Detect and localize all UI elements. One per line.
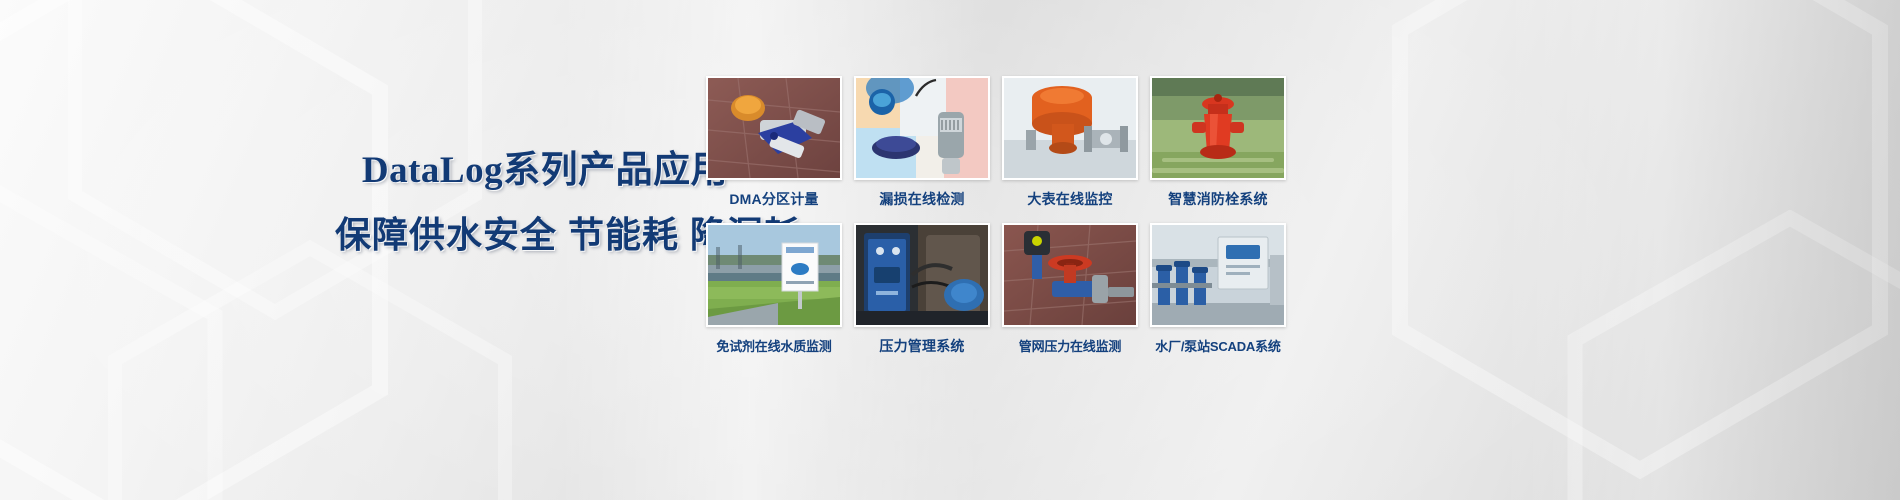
- headline-secondary: 保障供水安全 节能耗 降漏耗: [335, 212, 755, 258]
- product-caption: 管网压力在线监测: [1002, 336, 1138, 355]
- hexagon-watermark-icon: [1560, 210, 1900, 500]
- product-card-pressure-management-system[interactable]: 压力管理系统: [854, 223, 990, 365]
- product-card-large-meter-monitoring[interactable]: 大表在线监控: [1002, 76, 1138, 218]
- product-caption: 免试剂在线水质监测: [706, 336, 842, 355]
- hexagon-watermark-icon: [1380, 0, 1900, 480]
- product-card-smart-hydrant-system[interactable]: 智慧消防栓系统: [1150, 76, 1286, 218]
- hexagon-watermark-icon: [0, 180, 230, 500]
- product-card-reagent-free-water-quality[interactable]: 免试剂在线水质监测: [706, 223, 842, 365]
- product-grid: DMA分区计量: [706, 76, 1286, 365]
- product-card-dma-metering[interactable]: DMA分区计量: [706, 76, 842, 218]
- product-caption: 大表在线监控: [1002, 189, 1138, 209]
- product-thumbnail[interactable]: [1150, 76, 1286, 180]
- hexagon-watermark-icon: [100, 240, 520, 500]
- promo-banner: DataLog系列产品应用 保障供水安全 节能耗 降漏耗: [0, 0, 1900, 500]
- product-card-pipeline-pressure-monitoring[interactable]: 管网压力在线监测: [1002, 223, 1138, 365]
- background-sheen: [1500, 0, 1900, 500]
- product-thumbnail[interactable]: [1002, 223, 1138, 327]
- product-caption: 漏损在线检测: [854, 189, 990, 209]
- product-card-leak-online-detection[interactable]: 漏损在线检测: [854, 76, 990, 218]
- banner-headline: DataLog系列产品应用 保障供水安全 节能耗 降漏耗: [335, 148, 755, 258]
- product-thumbnail[interactable]: [1002, 76, 1138, 180]
- product-card-waterworks-scada[interactable]: 水厂/泵站SCADA系统: [1150, 223, 1286, 365]
- product-thumbnail[interactable]: [854, 223, 990, 327]
- product-caption: DMA分区计量: [706, 189, 842, 209]
- product-thumbnail[interactable]: [706, 76, 842, 180]
- product-caption: 压力管理系统: [854, 336, 990, 356]
- product-thumbnail[interactable]: [854, 76, 990, 180]
- product-caption: 水厂/泵站SCADA系统: [1150, 336, 1286, 355]
- product-thumbnail[interactable]: [706, 223, 842, 327]
- product-thumbnail[interactable]: [1150, 223, 1286, 327]
- product-caption: 智慧消防栓系统: [1150, 189, 1286, 209]
- headline-primary: DataLog系列产品应用: [335, 148, 755, 194]
